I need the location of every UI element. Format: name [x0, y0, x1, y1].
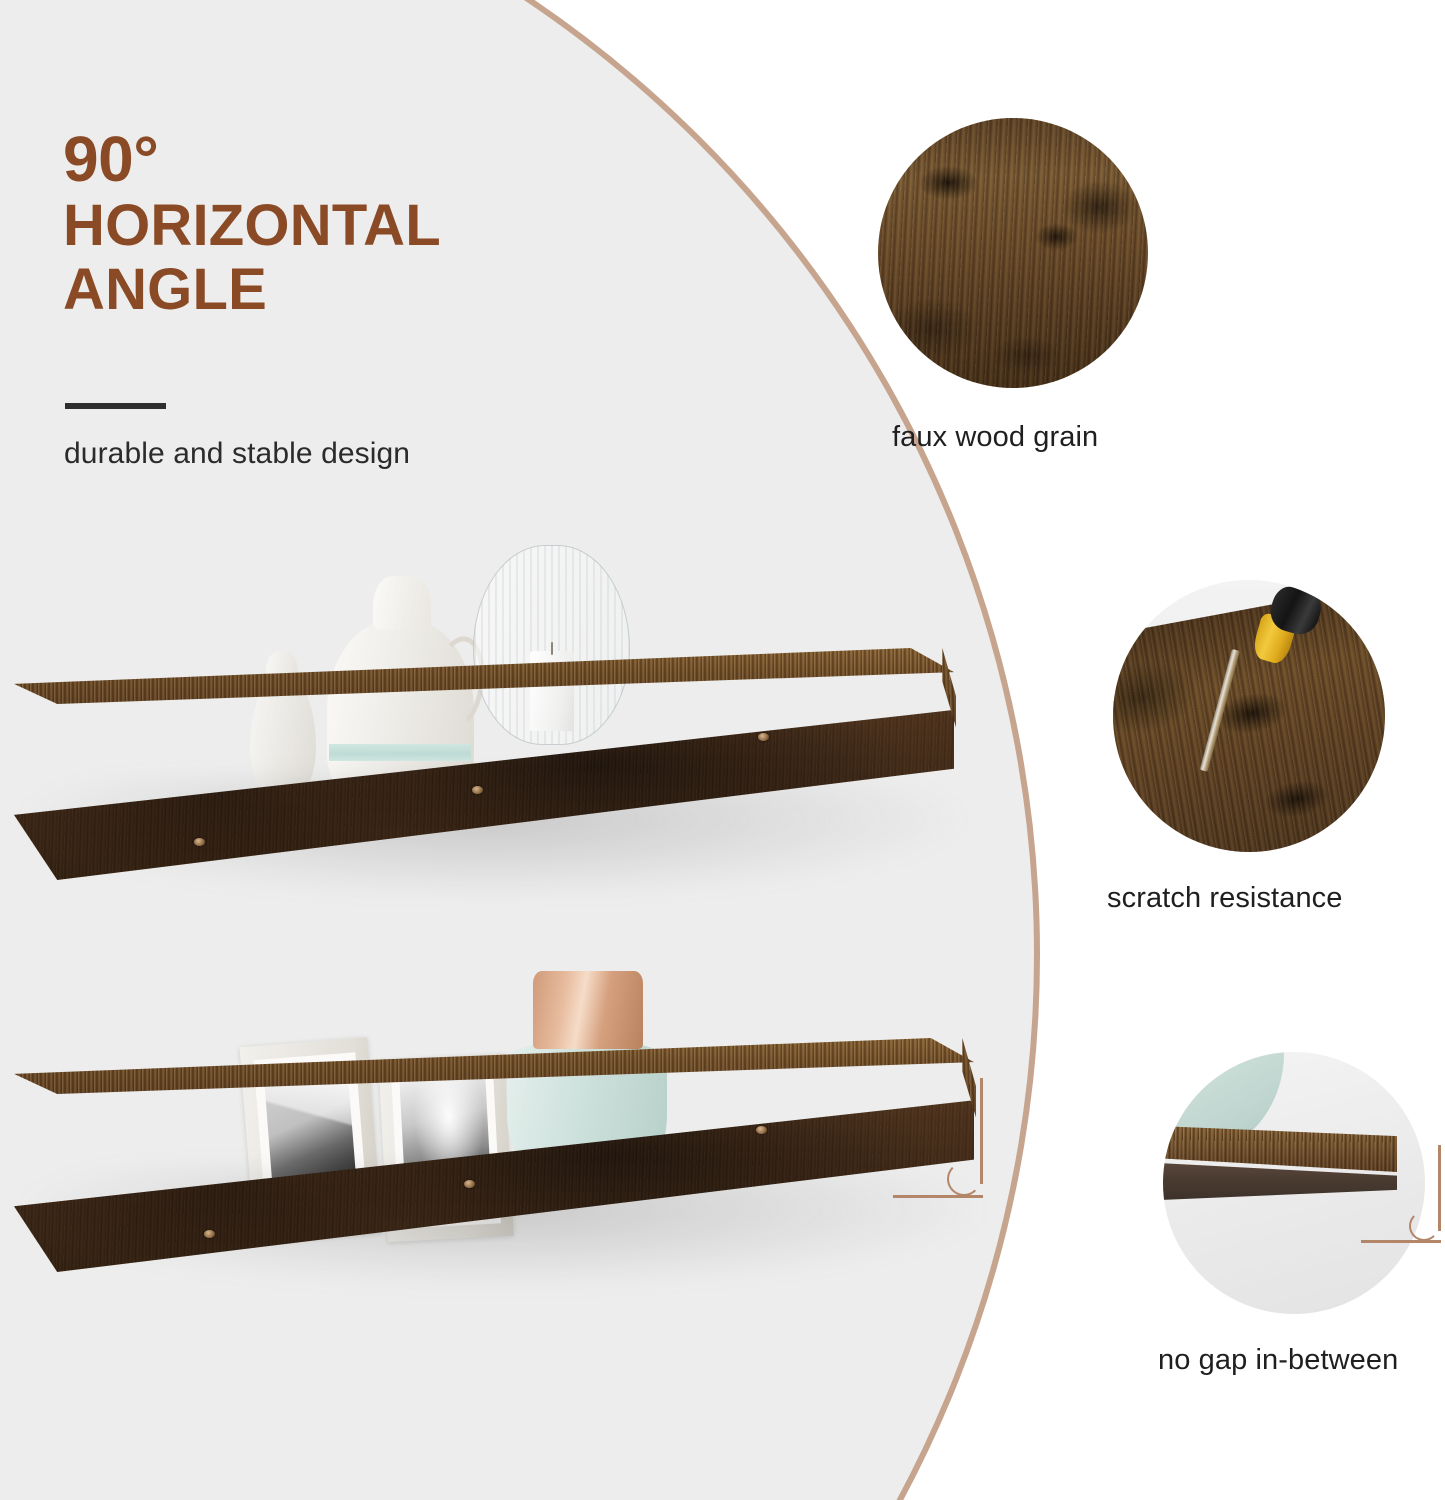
main-angle-marker: [893, 1078, 983, 1198]
angle-marker-arc: [1409, 1211, 1439, 1241]
upper-shelf: [0, 520, 980, 940]
headline-line-1: HORIZONTAL: [63, 194, 683, 258]
feature-label-faux-wood-grain: faux wood grain: [892, 421, 1098, 454]
candle-wick: [551, 642, 553, 655]
decor-glass-hurricane: [473, 545, 630, 745]
upper-shelf-screw-hole: [472, 786, 483, 794]
upper-shelf-screw-hole: [758, 733, 769, 741]
lower-shelf-screw-hole: [204, 1230, 215, 1238]
product-feature-image: 90° HORIZONTAL ANGLE durable and stable …: [0, 0, 1445, 1500]
mint-vase-copper-top: [533, 971, 643, 1049]
jug-mint-stripe: [329, 744, 471, 761]
feature-label-no-gap-in-between: no gap in-between: [1158, 1344, 1398, 1377]
angle-marker-horizontal-line: [893, 1195, 983, 1198]
wood-grain-swatch-icon: [878, 118, 1148, 388]
headline-divider: [65, 403, 166, 409]
detail-angle-marker: [1361, 1145, 1441, 1243]
headline-block: 90° HORIZONTAL ANGLE: [63, 126, 683, 321]
headline-degree: 90°: [63, 126, 683, 194]
feature-label-scratch-resistance: scratch resistance: [1107, 882, 1343, 915]
feature-scratch-resistance: scratch resistance: [1113, 580, 1443, 930]
lower-shelf-screw-hole: [464, 1180, 475, 1188]
angle-marker-vertical-line: [980, 1078, 983, 1184]
lower-shelf-screw-hole: [756, 1126, 767, 1134]
screwdriver-icon: [1113, 580, 1385, 852]
jug-neck: [373, 576, 431, 630]
upper-shelf-screw-hole: [194, 838, 205, 846]
wood-grain-texture: [878, 118, 1148, 388]
feature-no-gap-in-between: no gap in-between: [1163, 1052, 1445, 1402]
headline-line-2: ANGLE: [63, 258, 683, 322]
angle-marker-arc: [947, 1162, 981, 1196]
angle-marker-vertical-line: [1438, 1145, 1441, 1231]
headline-subtitle: durable and stable design: [64, 437, 410, 471]
angle-marker-horizontal-line: [1361, 1240, 1441, 1243]
lower-shelf: [0, 880, 1000, 1310]
feature-faux-wood-grain: faux wood grain: [878, 118, 1418, 458]
